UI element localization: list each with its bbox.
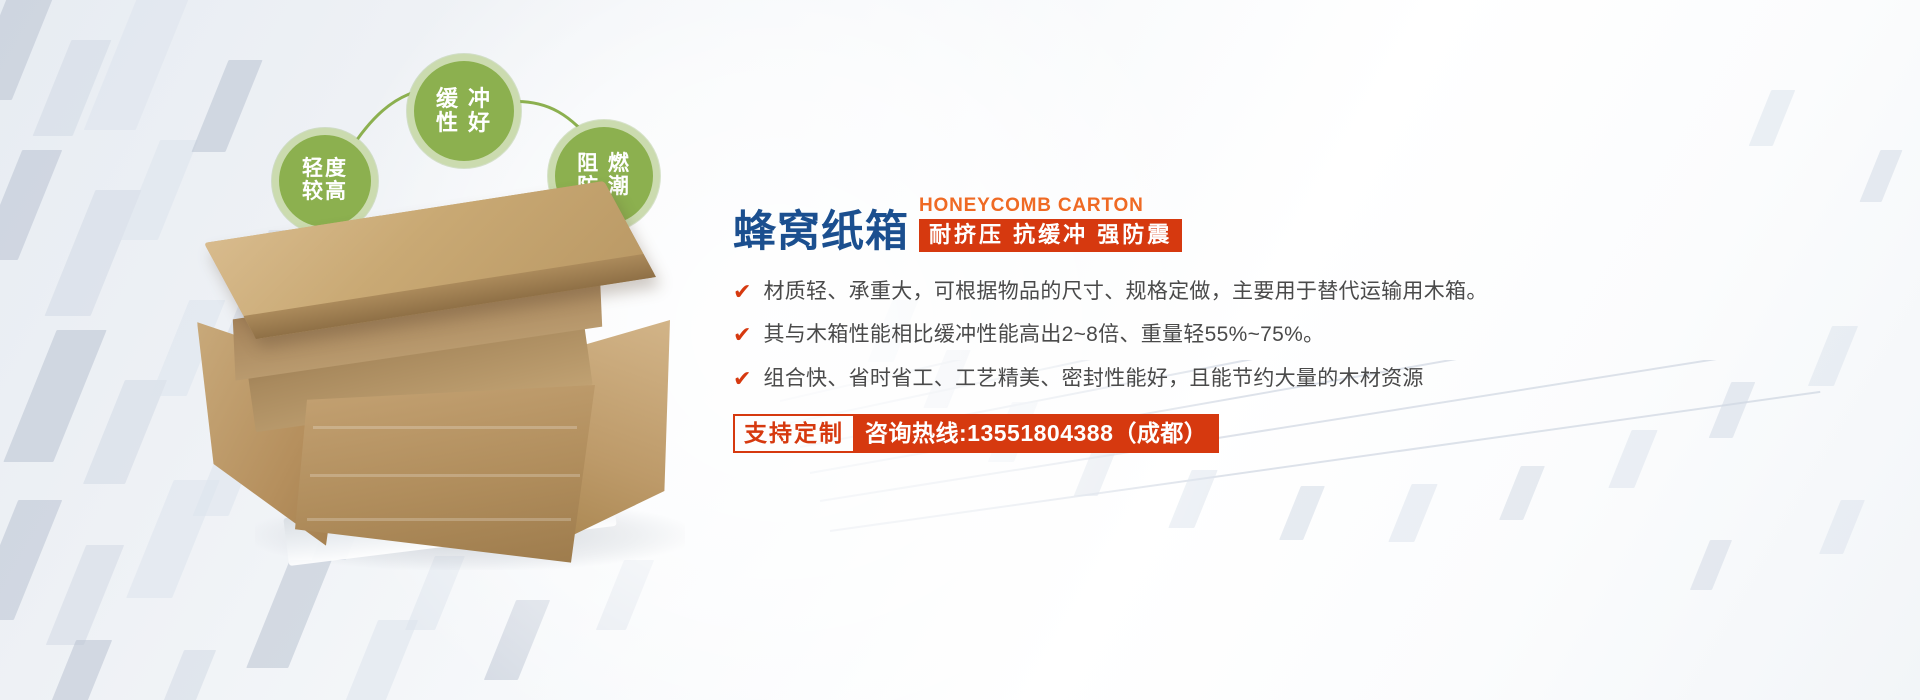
list-item-text: 材质轻、承重大，可根据物品的尺寸、规格定做，主要用于替代运输用木箱。 (763, 279, 1487, 305)
badge-cushioning: 缓 冲 性 好 (407, 54, 521, 168)
badge-light-weight-line1: 轻度 (302, 158, 348, 181)
check-icon: ✔ (733, 323, 751, 347)
check-icon: ✔ (733, 367, 751, 391)
tagline-banner: 耐挤压 抗缓冲 强防震 (919, 219, 1182, 252)
custom-order-badge: 支持定制 (733, 414, 855, 453)
list-item: ✔ 材质轻、承重大，可根据物品的尺寸、规格定做，主要用于替代运输用木箱。 (733, 279, 1873, 305)
contact-bar: 支持定制 咨询热线:13551804388（成都） (733, 414, 1219, 453)
promo-banner: 轻度 较高 缓 冲 性 好 阻 燃 防 潮 (0, 0, 1920, 700)
hotline-text[interactable]: 咨询热线:13551804388（成都） (855, 414, 1219, 453)
badge-cushioning-line2: 性 好 (436, 111, 492, 135)
list-item: ✔ 其与木箱性能相比缓冲性能高出2~8倍、重量轻55%~75%。 (733, 322, 1873, 348)
check-icon: ✔ (733, 280, 751, 304)
feature-list: ✔ 材质轻、承重大，可根据物品的尺寸、规格定做，主要用于替代运输用木箱。 ✔ 其… (733, 279, 1873, 392)
list-item-text: 组合快、省时省工、工艺精美、密封性能好，且能节约大量的木材资源 (763, 366, 1423, 392)
banner-content: 蜂窝纸箱 HONEYCOMB CARTON 耐挤压 抗缓冲 强防震 ✔ 材质轻、… (733, 196, 1873, 453)
badge-flame-moisture-line1: 阻 燃 (577, 153, 631, 176)
list-item-text: 其与木箱性能相比缓冲性能高出2~8倍、重量轻55%~75%。 (763, 322, 1324, 348)
page-title: 蜂窝纸箱 (733, 211, 909, 254)
title-row: 蜂窝纸箱 HONEYCOMB CARTON 耐挤压 抗缓冲 强防震 (733, 196, 1873, 254)
title-english: HONEYCOMB CARTON (919, 196, 1182, 215)
badge-cushioning-line1: 缓 冲 (436, 87, 492, 111)
list-item: ✔ 组合快、省时省工、工艺精美、密封性能好，且能节约大量的木材资源 (733, 366, 1873, 392)
product-image (175, 200, 735, 600)
